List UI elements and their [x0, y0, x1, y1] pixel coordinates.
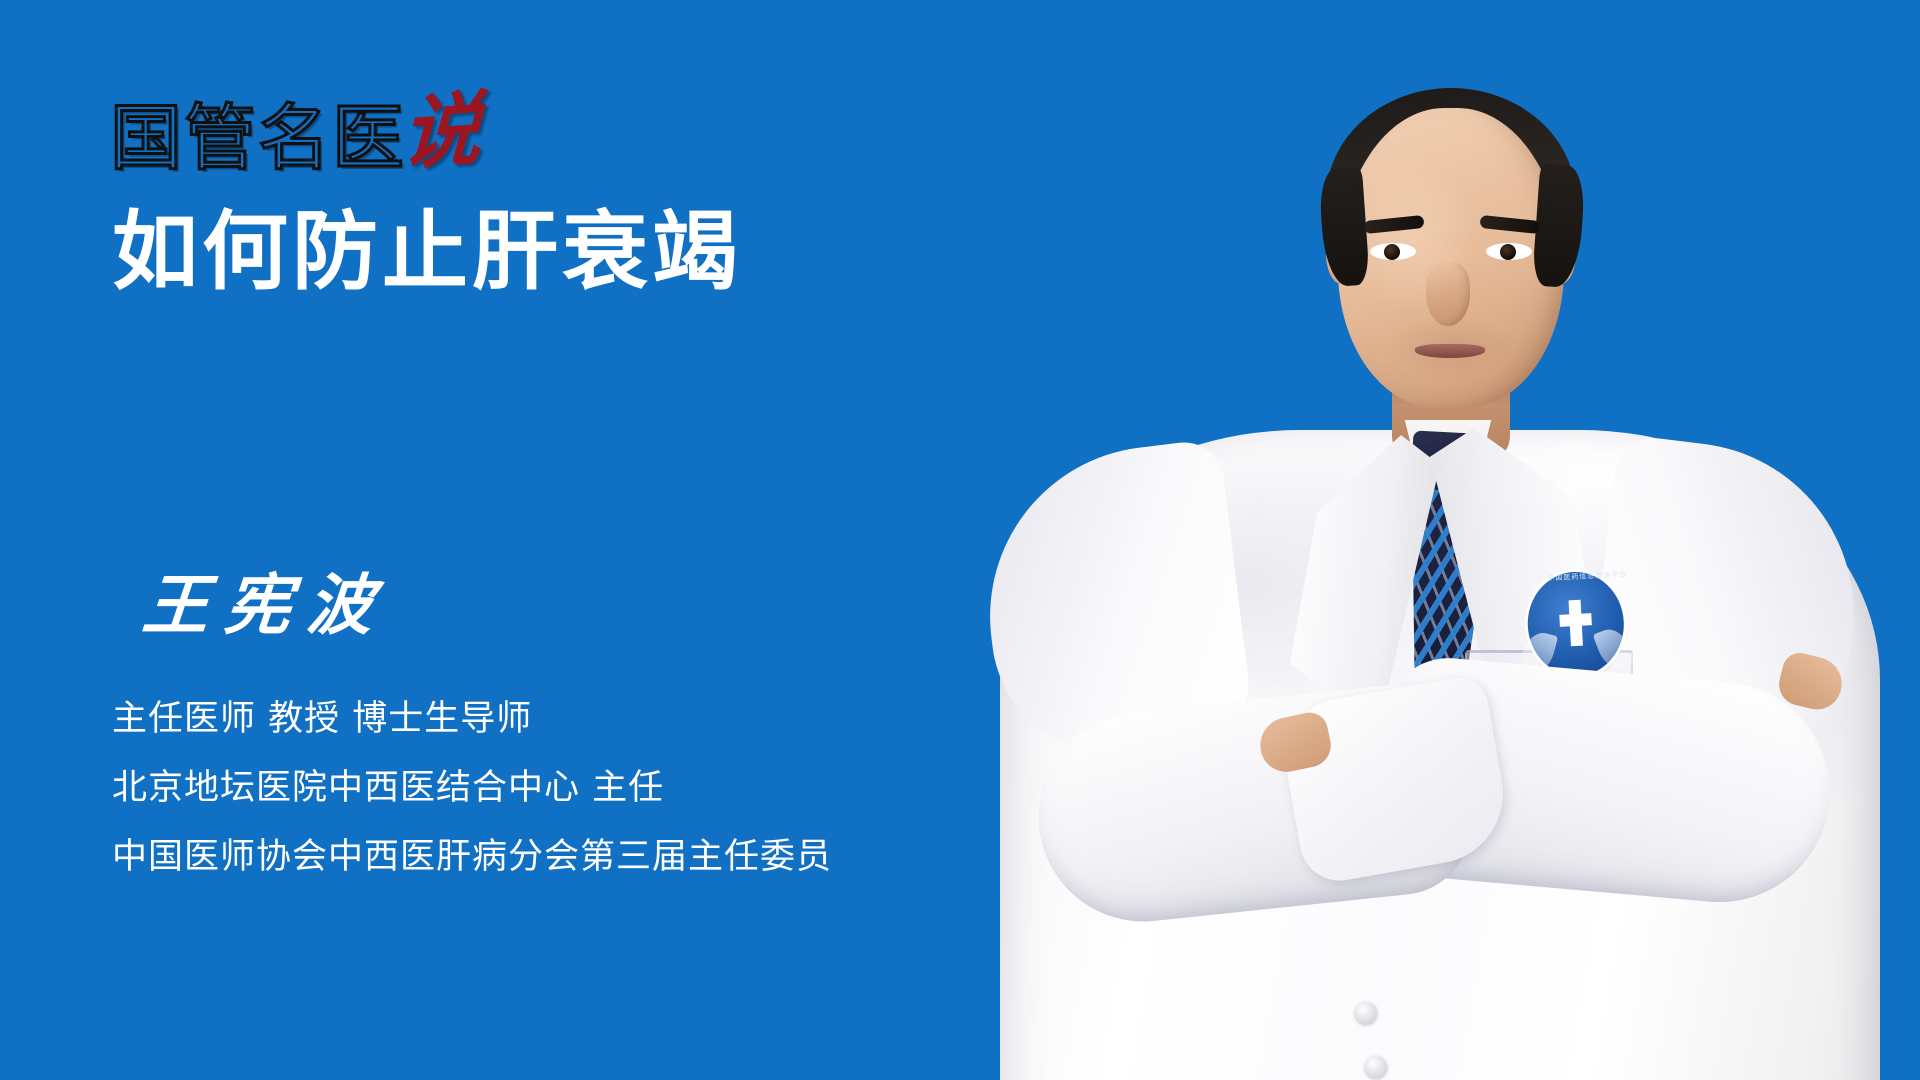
- credential-line: 北京地坛医院中西医结合中心 主任: [112, 771, 832, 806]
- page-title: 如何防止肝衰竭: [112, 202, 742, 303]
- program-logo-outline-text: 国管名医: [110, 102, 406, 174]
- credential-line: 中国医师协会中西医肝病分会第三届主任委员: [112, 840, 832, 875]
- slide-canvas: 国管名医 说 如何防止肝衰竭 王宪波 主任医师 教授 博士生导师 北京地坛医院中…: [0, 0, 1920, 1080]
- eye-left: [1370, 243, 1416, 260]
- doctor-portrait: 中国医药信息查询平台 中国医药信息查询平台: [960, 0, 1920, 1080]
- program-logo-accent-text: 说: [400, 88, 483, 174]
- mouth: [1415, 344, 1485, 358]
- lab-coat-button: [1365, 1056, 1387, 1078]
- nose: [1426, 262, 1470, 326]
- credential-line: 主任医师 教授 博士生导师: [112, 702, 832, 737]
- hair-side-left: [1318, 167, 1370, 288]
- program-logo: 国管名医 说: [110, 88, 480, 174]
- medical-cross-icon: [1559, 599, 1593, 647]
- speaker-credentials: 主任医师 教授 博士生导师 北京地坛医院中西医结合中心 主任 中国医师协会中西医…: [112, 702, 832, 875]
- lab-coat-button: [1355, 1002, 1377, 1024]
- eye-right: [1486, 243, 1532, 260]
- speaker-name: 王宪波: [140, 572, 392, 638]
